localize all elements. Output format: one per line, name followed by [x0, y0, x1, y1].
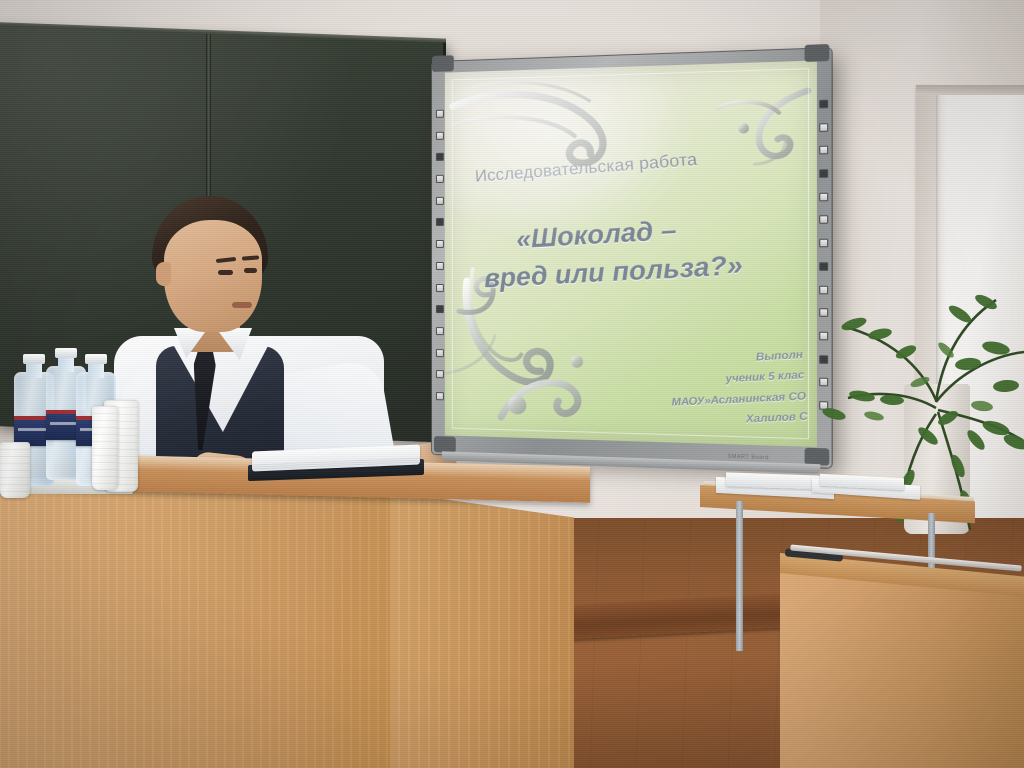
bottle-cap — [85, 354, 107, 364]
toolbar-button-icon[interactable] — [435, 284, 443, 292]
toolbar-button-icon[interactable] — [435, 327, 443, 335]
toolbar-button-icon[interactable] — [819, 100, 828, 109]
desk-front-panel — [0, 482, 390, 768]
vest-v-opening — [174, 346, 268, 432]
interactive-whiteboard[interactable]: Исследовательская работа «Шоколад – вред… — [432, 48, 832, 468]
toolbar-button-icon[interactable] — [435, 197, 443, 205]
face — [164, 220, 262, 332]
toolbar-button-icon[interactable] — [435, 370, 443, 378]
toolbar-button-icon[interactable] — [435, 305, 443, 313]
toolbar-button-icon[interactable] — [819, 192, 828, 201]
slide-byline: Выполн ученик 5 клас МАОУ»Асланинская СО… — [535, 346, 808, 440]
toolbar-button-icon[interactable] — [435, 218, 443, 226]
plastic-cup-stack[interactable] — [0, 442, 30, 498]
plastic-cup-stack[interactable] — [92, 406, 118, 490]
toolbar-button-icon[interactable] — [435, 175, 443, 183]
toolbar-button-icon[interactable] — [435, 153, 443, 161]
eye-right — [244, 268, 257, 273]
stacked-papers — [716, 474, 922, 502]
toolbar-button-icon[interactable] — [435, 349, 443, 357]
toolbar-button-icon[interactable] — [435, 392, 443, 400]
bezel-corner-bracket — [434, 436, 456, 453]
toolbar-button-icon[interactable] — [435, 262, 443, 270]
toolbar-button-icon[interactable] — [435, 131, 443, 139]
bottle-cap — [55, 348, 77, 358]
slide-title: «Шоколад – вред или польза?» — [477, 203, 799, 297]
eye-left — [218, 270, 233, 275]
toolbar-button-icon[interactable] — [435, 110, 443, 118]
toolbar-button-icon[interactable] — [819, 262, 828, 271]
toolbar-button-icon[interactable] — [435, 240, 443, 248]
bezel-corner-bracket — [432, 55, 454, 72]
slide-kicker: Исследовательская работа — [474, 143, 792, 187]
desk-leg — [736, 501, 743, 651]
ear — [156, 262, 171, 286]
toolbar-button-icon[interactable] — [819, 123, 828, 132]
student-desk-front — [780, 545, 1024, 768]
toolbar-button-icon[interactable] — [819, 146, 828, 155]
wall-niche-header — [916, 85, 1024, 95]
desk-side-panel — [378, 490, 574, 768]
projected-slide: Исследовательская работа «Шоколад – вред… — [445, 60, 817, 447]
bottle-cap — [23, 354, 45, 364]
whiteboard-bezel: Исследовательская работа «Шоколад – вред… — [432, 48, 832, 468]
bezel-corner-bracket — [805, 44, 830, 62]
mouth — [232, 302, 252, 308]
whiteboard-brand-label: SMART Board — [728, 454, 769, 462]
toolbar-button-icon[interactable] — [819, 216, 828, 225]
whiteboard-left-toolbar[interactable] — [435, 110, 444, 401]
classroom-photo: Исследовательская работа «Шоколад – вред… — [0, 0, 1024, 768]
desk-panel — [780, 573, 1024, 768]
open-binder[interactable] — [248, 448, 424, 480]
toolbar-button-icon[interactable] — [819, 169, 828, 178]
toolbar-button-icon[interactable] — [819, 239, 828, 248]
slide-text-block: Исследовательская работа «Шоколад – вред… — [445, 60, 817, 447]
